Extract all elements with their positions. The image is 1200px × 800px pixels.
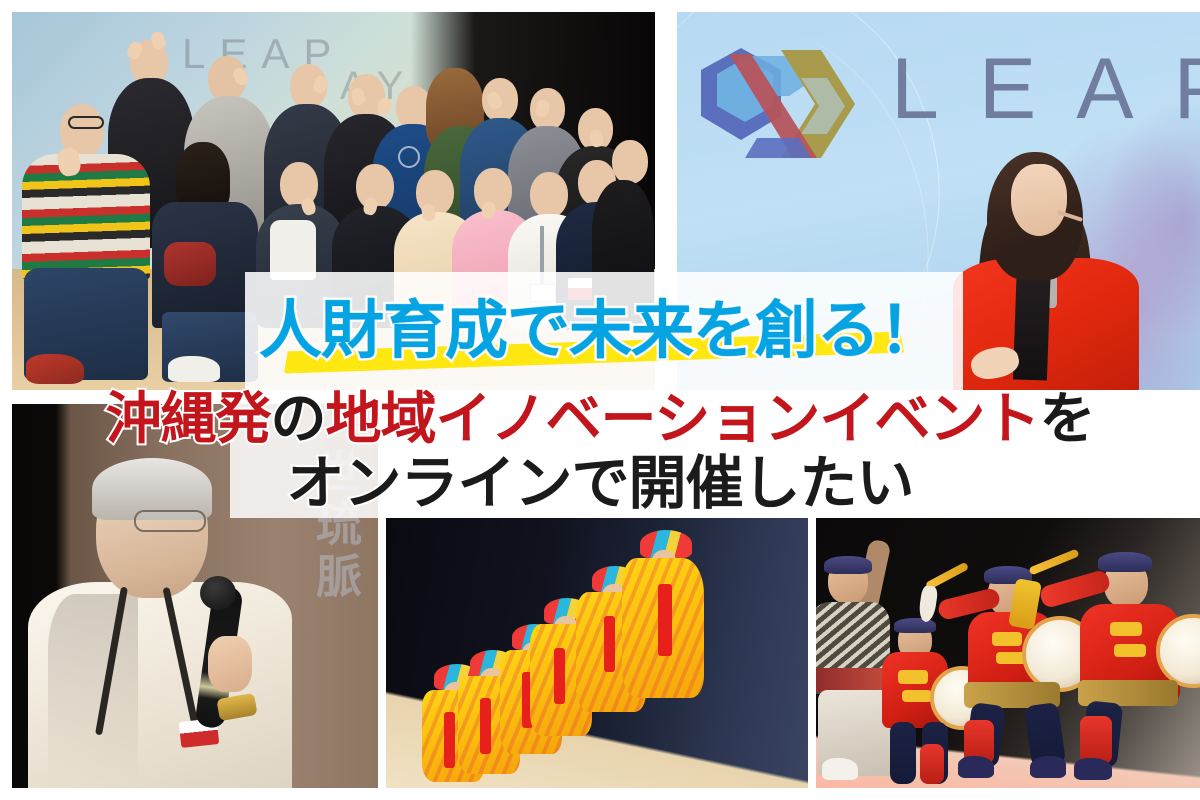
headline-panel-upper [245,272,963,398]
leap-logo-icon [693,30,863,180]
headline-line-2-black-b: を [1039,387,1094,450]
ryukyu-bingata-dancers [386,518,808,788]
campaign-banner: LEAP DAY [0,0,1200,800]
leap-screen-word: LEAP [891,40,1200,139]
eisa-drummers [816,518,1200,788]
headline-panel-lower [230,390,990,518]
